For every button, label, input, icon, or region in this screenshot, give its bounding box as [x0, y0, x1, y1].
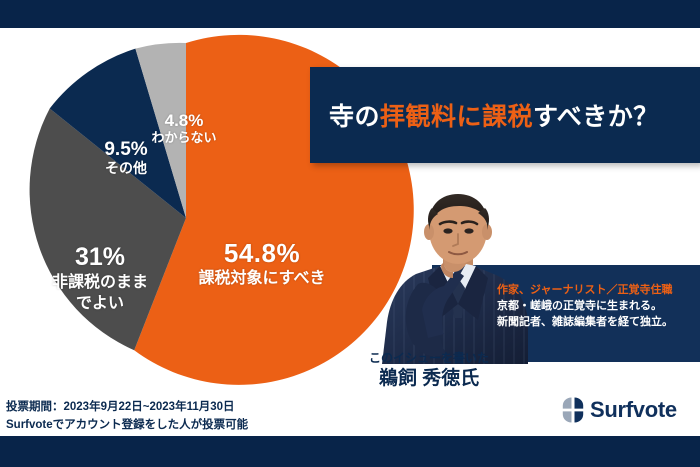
mark-quadrant-top-right [575, 398, 584, 409]
surfvote-logo: Surfvote [562, 397, 677, 423]
pie-chart-svg [11, 43, 361, 393]
pie-chart: 54.8% 課税対象にすべき 31% 非課税のまま でよい 9.5% その他 4… [11, 43, 361, 393]
title-suffix: すべきか？ [533, 103, 659, 131]
pie-label-nontaxable-name-line1: 非課税のまま [25, 273, 175, 292]
bio-line-2: 新聞記者、雑誌編集者を経て独立。 [497, 315, 697, 331]
pie-label-unknown: 4.8% わからない [129, 111, 239, 146]
bio-text: 作家、ジャーナリスト／正覚寺住職 京都・嵯峨の正覚寺に生まれる。 新聞記者、雑誌… [497, 283, 697, 331]
bottom-navy-band [0, 436, 700, 467]
bio-role: 作家、ジャーナリスト／正覚寺住職 [497, 283, 697, 299]
pie-label-taxable-pct: 54.8% [187, 239, 337, 268]
author-kicker: このイシューを書いた [369, 351, 489, 366]
author-caption: このイシューを書いた 鵜飼 秀徳氏 [369, 351, 489, 392]
vote-eligibility: Surfvoteでアカウント登録をした人が投票可能 [6, 417, 248, 435]
title-banner: 寺の拝観料に課税すべきか？ [310, 67, 700, 163]
title-highlight: 拝観料に課税 [380, 103, 533, 131]
surfvote-wordmark: Surfvote [590, 397, 677, 423]
pie-label-other-name: その他 [71, 161, 181, 177]
pie-label-taxable: 54.8% 課税対象にすべき [187, 239, 337, 288]
page-title: 寺の拝観料に課税すべきか？ [310, 97, 659, 133]
person-ear-right [482, 224, 492, 240]
mark-quadrant-bottom-left [563, 411, 572, 422]
vote-period: 投票期間：2023年9月22日~2023年11月30日 [6, 399, 248, 417]
bio-line-1: 京都・嵯峨の正覚寺に生まれる。 [497, 299, 697, 315]
pie-label-nontaxable-name-line2: でよい [25, 294, 175, 313]
author-photo [378, 192, 538, 364]
mark-quadrant-top-left [563, 398, 572, 409]
footer-note: 投票期間：2023年9月22日~2023年11月30日 Surfvoteでアカウ… [6, 399, 248, 435]
person-eye-left [443, 228, 452, 233]
top-navy-band [0, 0, 700, 28]
pie-label-nontaxable: 31% 非課税のまま でよい [25, 243, 175, 313]
surfvote-mark-icon [562, 397, 584, 423]
pie-label-taxable-name: 課税対象にすべき [187, 270, 337, 288]
pie-label-nontaxable-pct: 31% [25, 243, 175, 271]
poster-canvas: 54.8% 課税対象にすべき 31% 非課税のまま でよい 9.5% その他 4… [0, 0, 700, 467]
pie-label-unknown-name: わからない [129, 131, 239, 146]
mark-quadrant-bottom-right [575, 411, 584, 422]
author-name: 鵜飼 秀徳氏 [369, 367, 489, 392]
pie-label-unknown-pct: 4.8% [129, 111, 239, 130]
person-eye-right [464, 228, 473, 233]
title-prefix: 寺の [329, 103, 380, 131]
